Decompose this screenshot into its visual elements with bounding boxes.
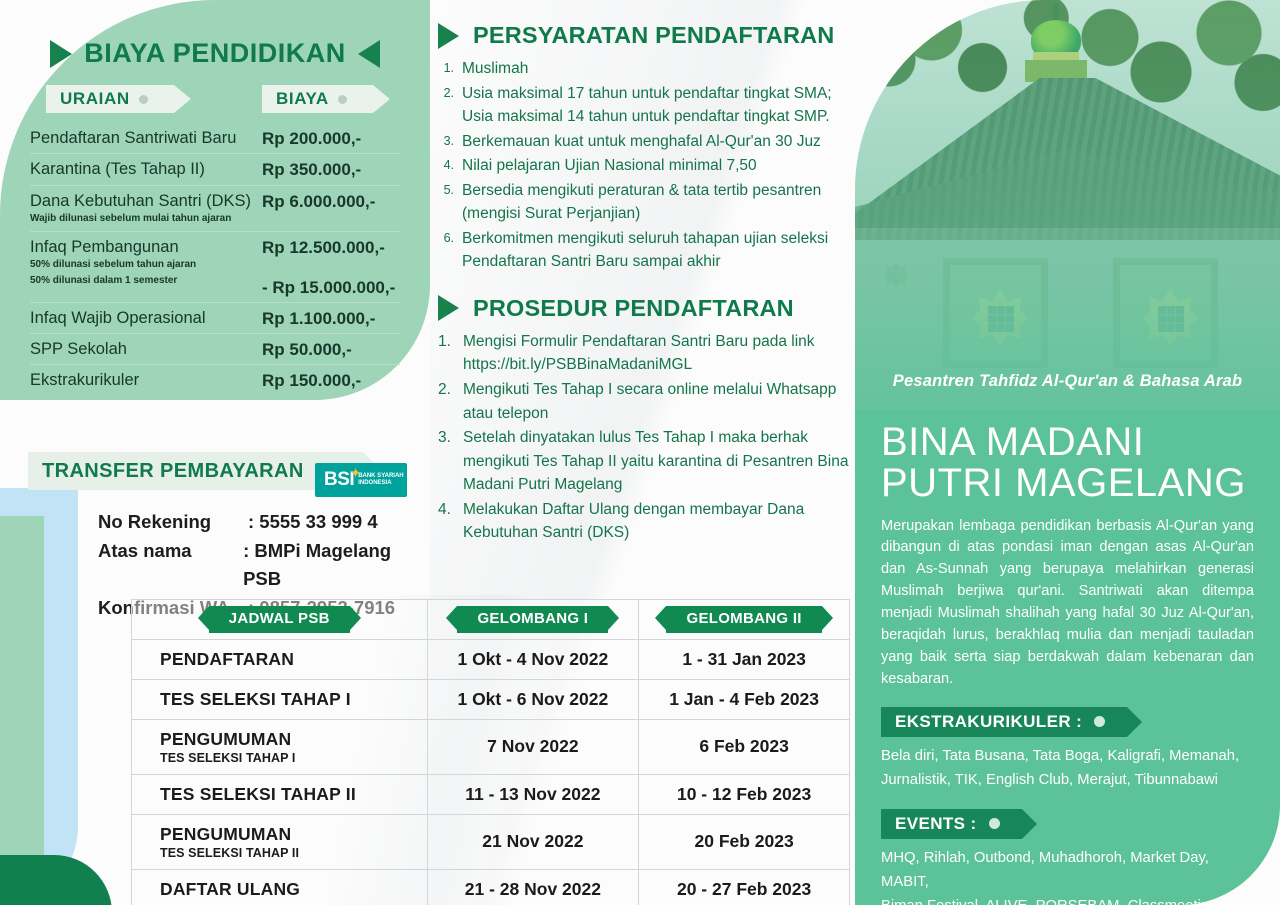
account-label: No Rekening — [98, 508, 248, 537]
schedule-stage-cell: PENGUMUMAN TES SELEKSI TAHAP II — [132, 814, 428, 869]
events-line-1: MHQ, Rihlah, Outbond, Muhadhoroh, Market… — [881, 847, 1254, 895]
schedule-date-g2: 1 Jan - 4 Feb 2023 — [639, 679, 850, 719]
account-value: : 5555 33 999 4 — [248, 508, 378, 537]
procedure-list: 1.Mengisi Formulir Pendaftaran Santri Ba… — [438, 330, 850, 545]
list-item: 4.Nilai pelajaran Ujian Nasional minimal… — [438, 154, 850, 178]
schedule-stage-cell: DAFTAR ULANG — [132, 869, 428, 905]
column-header-biaya: BIAYA — [262, 85, 373, 113]
fee-table: Pendaftaran Santriwati Baru Rp 200.000,-… — [30, 123, 400, 396]
fee-amount: Rp 50.000,- — [262, 339, 352, 360]
schedule-date-g1: 11 - 13 Nov 2022 — [427, 774, 639, 814]
fee-amount: Rp 350.000,- — [262, 159, 361, 180]
table-header-cell: GELOMBANG I — [427, 600, 639, 640]
table-row: TES SELEKSI TAHAP I 1 Okt - 6 Nov 2022 1… — [132, 679, 850, 719]
requirements-title-row: PERSYARATAN PENDAFTARAN — [438, 22, 850, 49]
bsi-logo-subtext: BANK SYARIAHINDONESIA — [358, 473, 403, 487]
procedure-text[interactable]: Mengisi Formulir Pendaftaran Santri Baru… — [463, 330, 850, 377]
schedule-date-g1: 1 Okt - 6 Nov 2022 — [427, 679, 639, 719]
list-item: 1.Mengisi Formulir Pendaftaran Santri Ba… — [438, 330, 850, 377]
fee-note-secondary: 50% dilunasi dalam 1 semester — [30, 274, 262, 289]
fee-row: Pendaftaran Santriwati Baru Rp 200.000,- — [30, 123, 400, 154]
column-header-biaya-label: BIAYA — [276, 89, 329, 109]
table-row: TES SELEKSI TAHAP II 11 - 13 Nov 2022 10… — [132, 774, 850, 814]
list-item: 2.Usia maksimal 17 tahun untuk pendaftar… — [438, 82, 850, 129]
requirement-text: Usia maksimal 17 tahun untuk pendaftar t… — [462, 82, 850, 129]
requirements-title: PERSYARATAN PENDAFTARAN — [473, 22, 834, 49]
ekstrakurikuler-line-1: Bela diri, Tata Busana, Tata Boga, Kalig… — [881, 745, 1254, 769]
account-row: No Rekening : 5555 33 999 4 — [98, 508, 428, 537]
schedule-date-g1: 1 Okt - 4 Nov 2022 — [427, 639, 639, 679]
table-header-row: JADWAL PSB GELOMBANG I GELOMBANG II — [132, 600, 850, 640]
procedure-title: PROSEDUR PENDAFTARAN — [473, 295, 794, 322]
list-item: 3.Setelah dinyatakan lulus Tes Tahap I m… — [438, 426, 850, 497]
stage-name: PENGUMUMAN — [160, 729, 427, 750]
schedule-date-g1: 21 Nov 2022 — [427, 814, 639, 869]
fee-amount: Rp 150.000,- — [262, 370, 361, 391]
account-row: Atas nama : BMPi Magelang PSB — [98, 537, 428, 594]
requirement-text: Nilai pelajaran Ujian Nasional minimal 7… — [462, 154, 757, 178]
header-tag-jadwal: JADWAL PSB — [209, 606, 350, 633]
institution-panel: Pesantren Tahfidz Al-Qur'an & Bahasa Ara… — [855, 0, 1280, 905]
requirement-text: Berkomitmen mengikuti seluruh tahapan uj… — [462, 227, 850, 274]
fee-name: Dana Kebutuhan Santri (DKS) — [30, 191, 262, 212]
stage-name: PENDAFTARAN — [160, 649, 427, 670]
fee-row: Dana Kebutuhan Santri (DKS) Wajib diluna… — [30, 186, 400, 232]
schedule-stage-cell: TES SELEKSI TAHAP II — [132, 774, 428, 814]
institution-description: Merupakan lembaga pendidikan berbasis Al… — [881, 516, 1254, 691]
table-row: PENDAFTARAN 1 Okt - 4 Nov 2022 1 - 31 Ja… — [132, 639, 850, 679]
fee-name: Ekstrakurikuler — [30, 370, 262, 391]
stage-subname: TES SELEKSI TAHAP I — [160, 751, 427, 765]
bsi-bank-logo: BSI✦ BANK SYARIAHINDONESIA — [315, 463, 407, 497]
list-item: 1.Muslimah — [438, 57, 850, 81]
procedure-text: Setelah dinyatakan lulus Tes Tahap I mak… — [463, 426, 850, 497]
fee-amount: Rp 200.000,- — [262, 128, 361, 149]
ekstrakurikuler-list: Bela diri, Tata Busana, Tata Boga, Kalig… — [881, 745, 1254, 793]
fee-row: Karantina (Tes Tahap II) Rp 350.000,- — [30, 154, 400, 185]
list-item: 6.Berkomitmen mengikuti seluruh tahapan … — [438, 227, 850, 274]
column-header-uraian: URAIAN — [46, 85, 174, 113]
fee-title-row: BIAYA PENDIDIKAN — [30, 38, 400, 69]
fee-row: Ekstrakurikuler Rp 150.000,- — [30, 365, 400, 395]
fee-title: BIAYA PENDIDIKAN — [84, 38, 346, 69]
column-header-uraian-label: URAIAN — [60, 89, 130, 109]
schedule-date-g2: 1 - 31 Jan 2023 — [639, 639, 850, 679]
stage-name: PENGUMUMAN — [160, 824, 427, 845]
requirements-list: 1.Muslimah 2.Usia maksimal 17 tahun untu… — [438, 57, 850, 274]
requirement-text: Muslimah — [462, 57, 528, 81]
transfer-title-tag: TRANSFER PEMBAYARAN — [28, 452, 363, 490]
fee-name: Infaq Pembangunan — [30, 237, 262, 258]
triangle-left-icon — [358, 40, 380, 68]
schedule-table: JADWAL PSB GELOMBANG I GELOMBANG II PEND… — [131, 599, 850, 905]
fee-name: SPP Sekolah — [30, 339, 262, 360]
schedule-table-section: JADWAL PSB GELOMBANG I GELOMBANG II PEND… — [131, 599, 850, 905]
institution-name-line2: PUTRI MAGELANG — [881, 463, 1254, 504]
schedule-stage-cell: PENDAFTARAN — [132, 639, 428, 679]
fee-amount: Rp 6.000.000,- — [262, 191, 375, 212]
fee-name: Karantina (Tes Tahap II) — [30, 159, 262, 180]
triangle-right-icon — [438, 295, 459, 321]
fee-panel: BIAYA PENDIDIKAN URAIAN BIAYA Pendaftara… — [0, 0, 430, 400]
middle-column: PERSYARATAN PENDAFTARAN 1.Muslimah 2.Usi… — [438, 22, 850, 546]
stage-name: TES SELEKSI TAHAP II — [160, 784, 427, 805]
account-label: Atas nama — [98, 537, 243, 594]
schedule-stage-cell: PENGUMUMAN TES SELEKSI TAHAP I — [132, 719, 428, 774]
schedule-date-g1: 7 Nov 2022 — [427, 719, 639, 774]
requirement-text: Bersedia mengikuti peraturan & tata tert… — [462, 179, 850, 226]
schedule-date-g2: 20 - 27 Feb 2023 — [639, 869, 850, 905]
schedule-date-g1: 21 - 28 Nov 2022 — [427, 869, 639, 905]
fee-name: Pendaftaran Santriwati Baru — [30, 128, 262, 149]
procedure-text: Mengikuti Tes Tahap I secara online mela… — [463, 378, 850, 425]
bullet-dot-icon — [989, 818, 1000, 829]
bullet-dot-icon — [1094, 716, 1105, 727]
fee-amount: Rp 1.100.000,- — [262, 308, 375, 329]
schedule-date-g2: 20 Feb 2023 — [639, 814, 850, 869]
list-item: 2.Mengikuti Tes Tahap I secara online me… — [438, 378, 850, 425]
decor-darkgreen-corner — [0, 855, 112, 905]
institution-name: BINA MADANI PUTRI MAGELANG — [881, 410, 1254, 504]
institution-name-line1: BINA MADANI — [881, 422, 1254, 463]
list-item: 5.Bersedia mengikuti peraturan & tata te… — [438, 179, 850, 226]
events-tag: EVENTS : — [881, 809, 1022, 839]
table-row: DAFTAR ULANG 21 - 28 Nov 2022 20 - 27 Fe… — [132, 869, 850, 905]
stage-name: DAFTAR ULANG — [160, 879, 427, 900]
bullet-dot-icon — [139, 95, 148, 104]
ekstrakurikuler-line-2: Jurnalistik, TIK, English Club, Merajut,… — [881, 769, 1254, 793]
table-row: PENGUMUMAN TES SELEKSI TAHAP I 7 Nov 202… — [132, 719, 850, 774]
list-item: 3.Berkemauan kuat untuk menghafal Al-Qur… — [438, 130, 850, 154]
poster-root: BIAYA PENDIDIKAN URAIAN BIAYA Pendaftara… — [0, 0, 1280, 905]
table-header-cell: JADWAL PSB — [132, 600, 428, 640]
institution-info: Pesantren Tahfidz Al-Qur'an & Bahasa Ara… — [855, 410, 1280, 905]
table-row: PENGUMUMAN TES SELEKSI TAHAP II 21 Nov 2… — [132, 814, 850, 869]
schedule-date-g2: 10 - 12 Feb 2023 — [639, 774, 850, 814]
institution-subtitle: Pesantren Tahfidz Al-Qur'an & Bahasa Ara… — [855, 372, 1280, 391]
fee-row: Infaq Wajib Operasional Rp 1.100.000,- — [30, 303, 400, 334]
stage-subname: TES SELEKSI TAHAP II — [160, 846, 427, 860]
requirement-text: Berkemauan kuat untuk menghafal Al-Qur'a… — [462, 130, 821, 154]
procedure-title-row: PROSEDUR PENDAFTARAN — [438, 295, 850, 322]
fee-name: Infaq Wajib Operasional — [30, 308, 262, 329]
header-tag-gelombang-1: GELOMBANG I — [457, 606, 608, 633]
triangle-right-icon — [438, 23, 459, 49]
fee-row: SPP Sekolah Rp 50.000,- — [30, 334, 400, 365]
fee-note: 50% dilunasi sebelum tahun ajaran — [30, 258, 262, 273]
fee-amount-range: - Rp 15.000.000,- — [262, 278, 395, 298]
table-header-cell: GELOMBANG II — [639, 600, 850, 640]
bsi-logo-star-icon: ✦ — [351, 466, 361, 480]
bullet-dot-icon — [338, 95, 347, 104]
fee-column-headers: URAIAN BIAYA — [30, 85, 400, 113]
list-item: 4.Melakukan Daftar Ulang dengan membayar… — [438, 498, 850, 545]
schedule-date-g2: 6 Feb 2023 — [639, 719, 850, 774]
stage-name: TES SELEKSI TAHAP I — [160, 689, 427, 710]
ekstrakurikuler-label: EKSTRAKURIKULER : — [895, 712, 1082, 732]
procedure-text: Melakukan Daftar Ulang dengan membayar D… — [463, 498, 850, 545]
header-tag-gelombang-2: GELOMBANG II — [666, 606, 821, 633]
events-line-2: Biman Festival, ALIVE, PORSEBAM, Classme… — [881, 895, 1254, 905]
triangle-right-icon — [50, 40, 72, 68]
events-list: MHQ, Rihlah, Outbond, Muhadhoroh, Market… — [881, 847, 1254, 905]
transfer-title: TRANSFER PEMBAYARAN — [42, 460, 304, 483]
ekstrakurikuler-tag: EKSTRAKURIKULER : — [881, 707, 1127, 737]
fee-row: Infaq Pembangunan 50% dilunasi sebelum t… — [30, 232, 400, 303]
account-value: : BMPi Magelang PSB — [243, 537, 428, 594]
fee-note: Wajib dilunasi sebelum mulai tahun ajara… — [30, 212, 262, 227]
mosque-photo — [855, 0, 1280, 430]
events-label: EVENTS : — [895, 814, 977, 834]
photo-green-overlay — [855, 0, 1280, 430]
fee-amount: Rp 12.500.000,- — [262, 237, 395, 258]
schedule-stage-cell: TES SELEKSI TAHAP I — [132, 679, 428, 719]
